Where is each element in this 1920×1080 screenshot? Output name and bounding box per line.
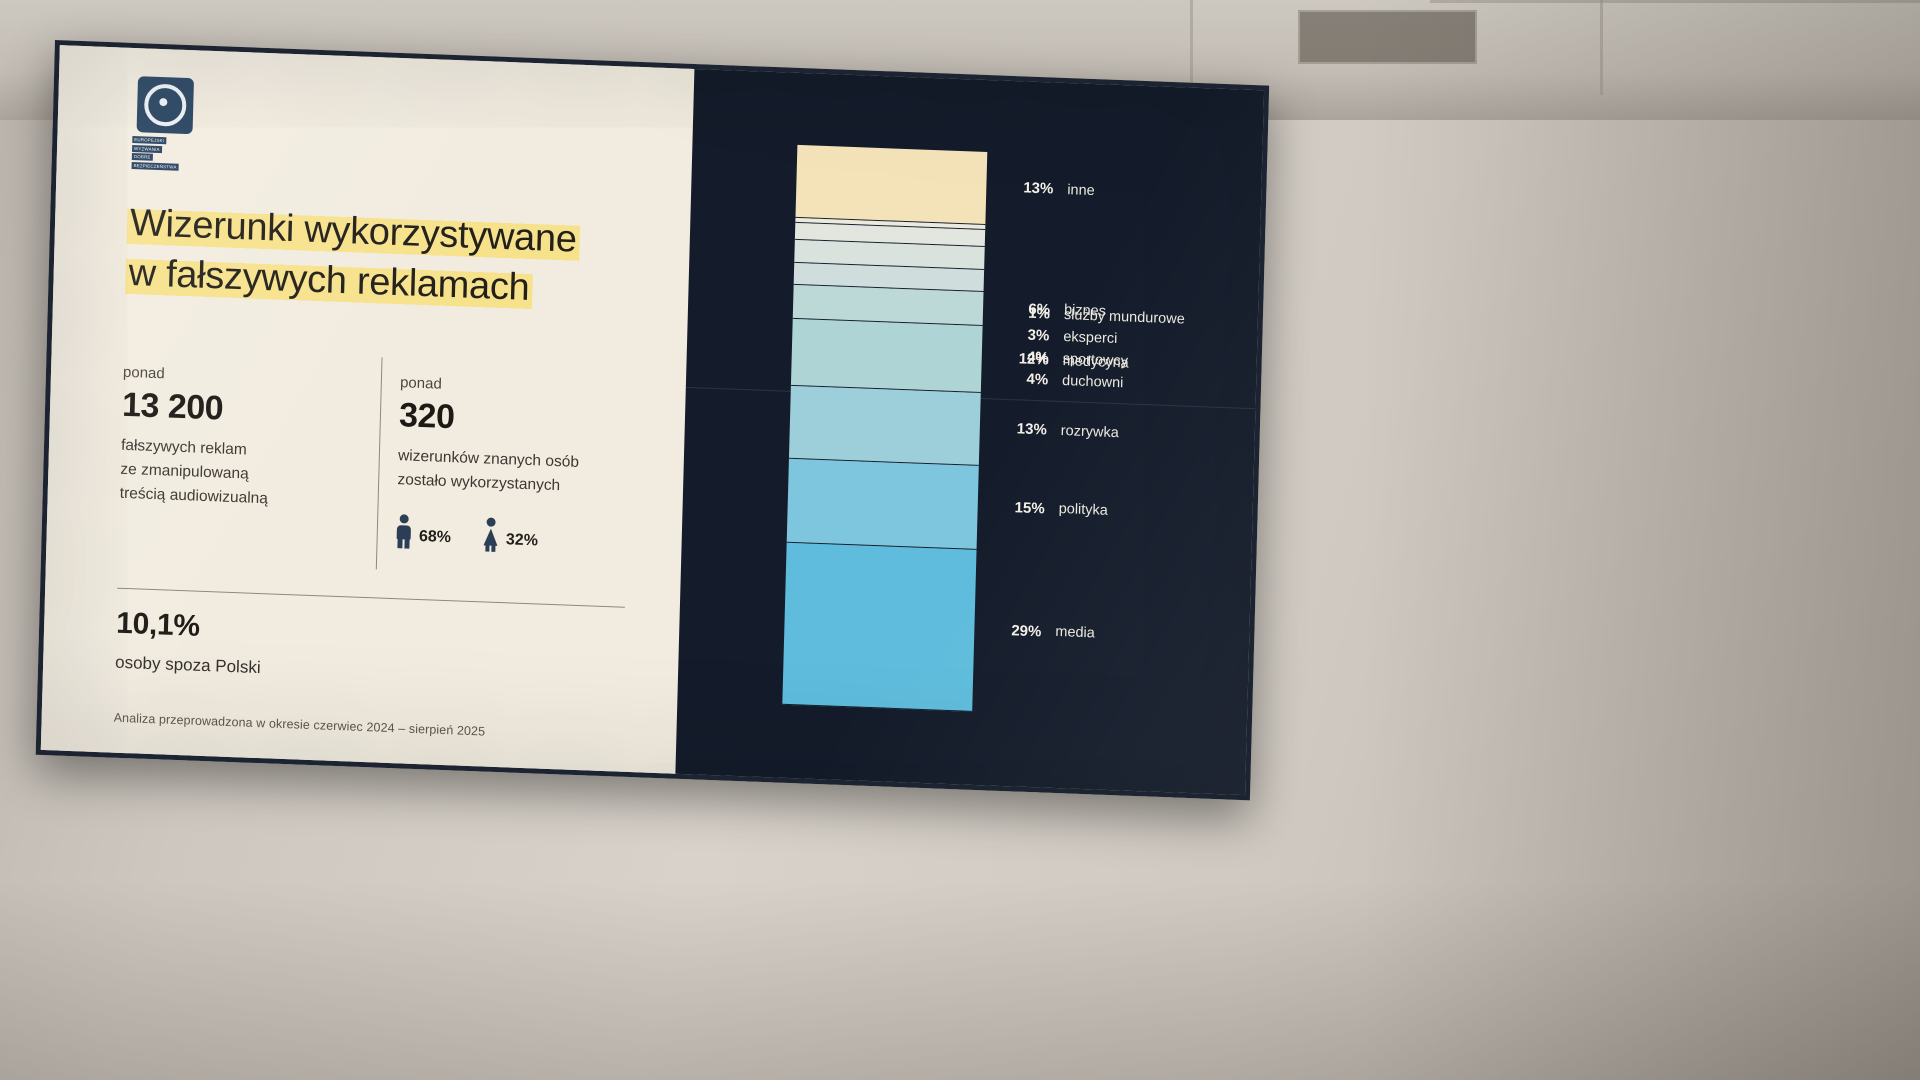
stat-description: fałszywych reklam ze zmanipulowaną treśc… (119, 434, 366, 515)
stat-value: 320 (399, 394, 623, 444)
legend-percent: 6% (1006, 300, 1050, 319)
stat-card-personas: ponad 320 wizerunków znanych osób został… (364, 357, 624, 556)
stacked-bar-chart (782, 145, 987, 712)
slide-left-panel: EUROPEJSKI WYZWANIA DOBRE BEZPIECZEŃSTWA… (41, 45, 695, 774)
legend-item-polityka: 15%polityka (1000, 498, 1108, 519)
source-note: Analiza przeprowadzona w okresie czerwie… (114, 711, 674, 746)
legend-label: media (1055, 624, 1095, 641)
legend-label: duchowni (1062, 373, 1124, 391)
chart-legend: 13%inne1%służby mundurowe3%eksperci4%spo… (1010, 153, 1260, 162)
chart-segment-media (782, 542, 976, 711)
legend-item-rozrywka: 13%rozrywka (1003, 420, 1119, 441)
projection-screen: EUROPEJSKI WYZWANIA DOBRE BEZPIECZEŃSTWA… (36, 40, 1270, 800)
legend-percent: 13% (1003, 420, 1047, 439)
legend-label: medycyna (1062, 353, 1128, 371)
female-figure-icon (483, 517, 500, 552)
legend-item-eksperci: 3%eksperci (1005, 326, 1117, 347)
organization-logo: EUROPEJSKI WYZWANIA DOBRE BEZPIECZEŃSTWA (132, 76, 198, 170)
gender-split-female: 32% (483, 517, 539, 553)
chart-segment-medycyna (791, 318, 983, 392)
legend-item-duchowni: 4%duchowni (1004, 370, 1124, 391)
legend-label: polityka (1058, 501, 1108, 519)
shield-eye-logo-icon (137, 76, 194, 134)
chart-segment-rozrywka (789, 386, 981, 466)
outside-poland-block: 10,1% osoby spoza Polski Analiza przepro… (114, 588, 677, 746)
outside-poland-value: 10,1% (116, 607, 677, 662)
logo-line: BEZPIECZEŃSTWA (132, 161, 179, 170)
chart-segment-polityka (787, 458, 979, 549)
stat-description: wizerunków znanych osób zostało wykorzys… (397, 444, 621, 500)
wall-lower-shading (0, 880, 1920, 1080)
outside-poland-label: osoby spoza Polski (115, 653, 675, 694)
female-percent: 32% (506, 531, 539, 553)
male-figure-icon (396, 514, 413, 549)
legend-item-medycyna: 12%medycyna (1005, 350, 1129, 372)
stat-value: 13 200 (122, 384, 368, 435)
legend-percent: 3% (1005, 326, 1049, 345)
slide-right-panel: 13%inne1%służby mundurowe3%eksperci4%spo… (675, 69, 1264, 795)
divider (117, 588, 625, 608)
logo-line: DOBRE (132, 153, 153, 161)
logo-wordmark: EUROPEJSKI WYZWANIA DOBRE BEZPIECZEŃSTWA (132, 136, 197, 172)
chart-segment-inne (795, 145, 987, 225)
legend-percent: 29% (997, 622, 1041, 641)
male-percent: 68% (419, 528, 452, 550)
legend-label: eksperci (1063, 329, 1117, 347)
logo-line: EUROPEJSKI (132, 136, 166, 144)
legend-label: inne (1067, 182, 1095, 199)
legend-item-media: 29%media (997, 622, 1095, 643)
legend-percent: 15% (1000, 498, 1044, 517)
stat-card-fake-ads: ponad 13 200 fałszywych reklam ze zmanip… (119, 348, 369, 547)
legend-label: biznes (1064, 302, 1106, 320)
gender-split: 68% 32% (396, 514, 620, 556)
page-title: Wizerunki wykorzystywane w fałszywych re… (125, 198, 667, 318)
legend-percent: 12% (1005, 350, 1049, 369)
legend-percent: 4% (1004, 370, 1048, 389)
statistics-row: ponad 13 200 fałszywych reklam ze zmanip… (119, 348, 624, 557)
legend-item-inne: 13%inne (1009, 179, 1095, 199)
slide-canvas: EUROPEJSKI WYZWANIA DOBRE BEZPIECZEŃSTWA… (36, 40, 1270, 800)
logo-line: WYZWANIA (132, 144, 162, 152)
gender-split-male: 68% (396, 514, 452, 550)
legend-label: rozrywka (1061, 423, 1119, 441)
statistics-block: ponad 13 200 fałszywych reklam ze zmanip… (119, 348, 624, 557)
legend-percent: 13% (1009, 179, 1053, 198)
